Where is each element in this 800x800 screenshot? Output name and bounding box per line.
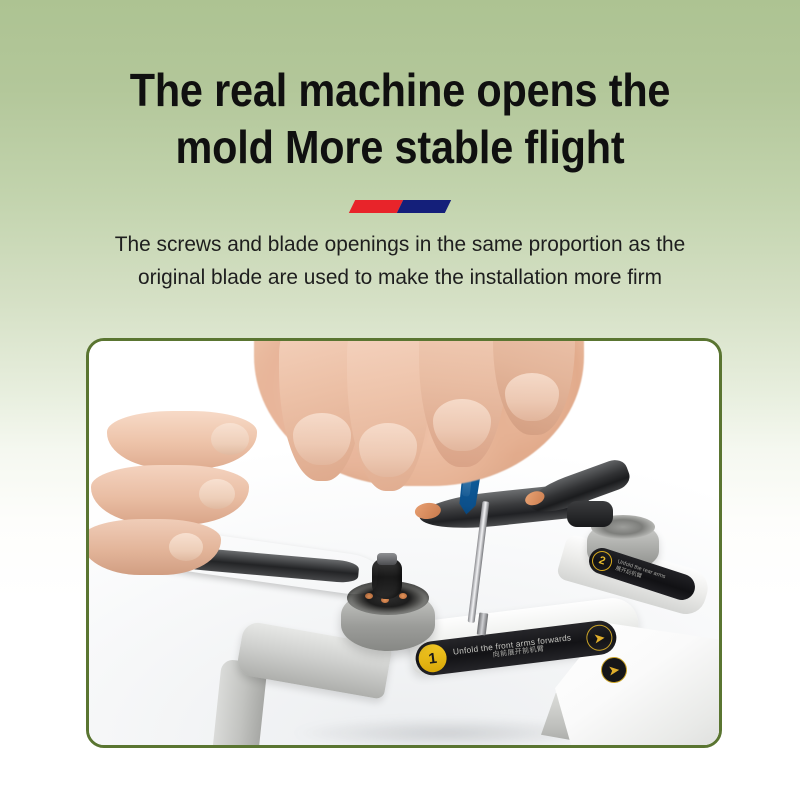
page-subtitle: The screws and blade openings in the sam…: [51, 228, 749, 294]
product-photo-card: 1 Unfold the front arms forwards 向前展开前机臂…: [86, 338, 722, 748]
fingernail: [211, 423, 249, 455]
arm-label-1-arrow-icon: ➤: [585, 623, 614, 652]
product-photo: 1 Unfold the front arms forwards 向前展开前机臂…: [89, 341, 719, 745]
motor-winding: [399, 593, 407, 599]
propeller-hub: [567, 501, 613, 527]
motor-winding: [365, 593, 373, 599]
fingernail: [505, 373, 559, 421]
product-banner: The real machine opens the mold More sta…: [0, 0, 800, 800]
fingernail: [433, 399, 491, 451]
fingernail: [199, 479, 235, 509]
motor-screw-nut: [377, 553, 397, 565]
arm-label-1-badge: 1: [417, 643, 448, 674]
fingernail: [169, 533, 203, 561]
arm-label-1-text: Unfold the front arms forwards 向前展开前机臂: [446, 631, 588, 664]
divider-segment-red: [349, 200, 403, 213]
propeller-mounted: [419, 481, 624, 539]
fingernail: [293, 413, 351, 465]
accent-divider: [352, 200, 448, 213]
hand-left-finger: [91, 465, 249, 525]
page-title: The real machine opens the mold More sta…: [40, 62, 760, 176]
hand-left-finger: [107, 411, 257, 469]
divider-segment-blue: [397, 200, 451, 213]
fingernail: [359, 423, 417, 477]
